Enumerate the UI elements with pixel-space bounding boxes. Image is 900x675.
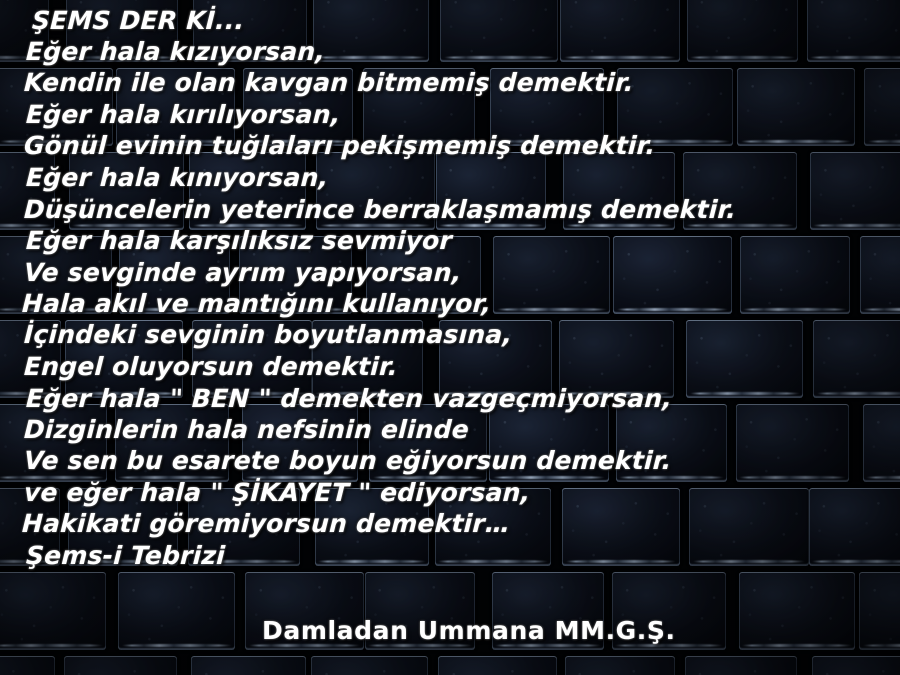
poem-line: Ve sen bu esarete boyun eğiyorsun demekt… [23,446,672,476]
poem-line: Hakikati göremiyorsun demektir… [21,509,511,539]
poem-line: Gönül evinin tuğlaları pekişmemiş demekt… [23,131,656,161]
poem-line: Şems-i Tebrizi [25,541,226,571]
poem-line: Hala akıl ve mantığını kullanıyor, [21,289,492,319]
poem-line: Eğer hala kınıyorsan, [25,163,329,193]
poem-line: Ve sevginde ayrım yapıyorsan, [23,258,462,288]
poem-line: Kendin ile olan kavgan bitmemiş demektir… [23,68,634,98]
signature-credit: Damladan Ummana MM.G.Ş. [262,616,676,646]
poem-line: Düşüncelerin yeterince berraklaşmamış de… [23,195,737,225]
poem-line: Engel oluyorsun demektir. [23,352,398,382]
poem-line: Eğer hala kızıyorsan, [25,37,326,67]
poem-line: Eğer hala " BEN " demekten vazgeçmiyorsa… [25,384,673,414]
poem-line: Dizginlerin hala nefsinin elinde [23,415,470,445]
poem-line: Eğer hala karşılıksız sevmiyor [25,226,453,256]
poem-line: İçindeki sevginin boyutlanmasına, [23,320,513,350]
poem-line: ŞEMS DER Kİ... [31,6,245,36]
poem-line: Eğer hala kırılıyorsan, [25,100,341,130]
poster: ŞEMS DER Kİ...Eğer hala kızıyorsan,Kendi… [0,0,900,675]
poem-line: ve eğer hala " ŞİKAYET " ediyorsan, [23,478,531,508]
poem-text-block: ŞEMS DER Kİ...Eğer hala kızıyorsan,Kendi… [0,0,900,675]
